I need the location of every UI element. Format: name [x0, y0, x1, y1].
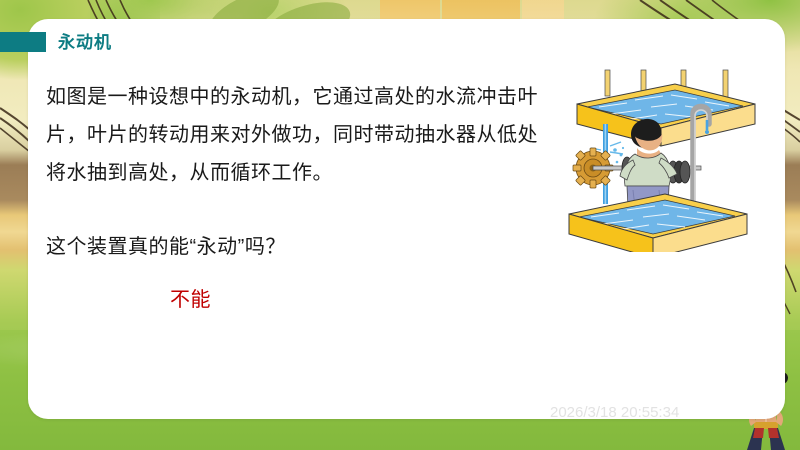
slide-root: 永动机 如图是一种设想中的永动机，它通过高处的水流冲击叶片，叶片的转动用来对外做…: [0, 0, 800, 450]
lower-water-tank: [569, 194, 747, 252]
answer-text: 不能: [170, 283, 211, 312]
body-paragraph: 如图是一种设想中的永动机，它通过高处的水流冲击叶片，叶片的转动用来对外做功，同时…: [46, 78, 546, 192]
timestamp: 2026/3/18 20:55:34: [550, 404, 679, 421]
title-accent-bar: [0, 32, 46, 52]
page-title: 永动机: [58, 28, 112, 53]
perpetual-motion-machine-diagram: [565, 62, 765, 252]
question-text: 这个装置真的能“永动”吗？: [46, 230, 286, 259]
